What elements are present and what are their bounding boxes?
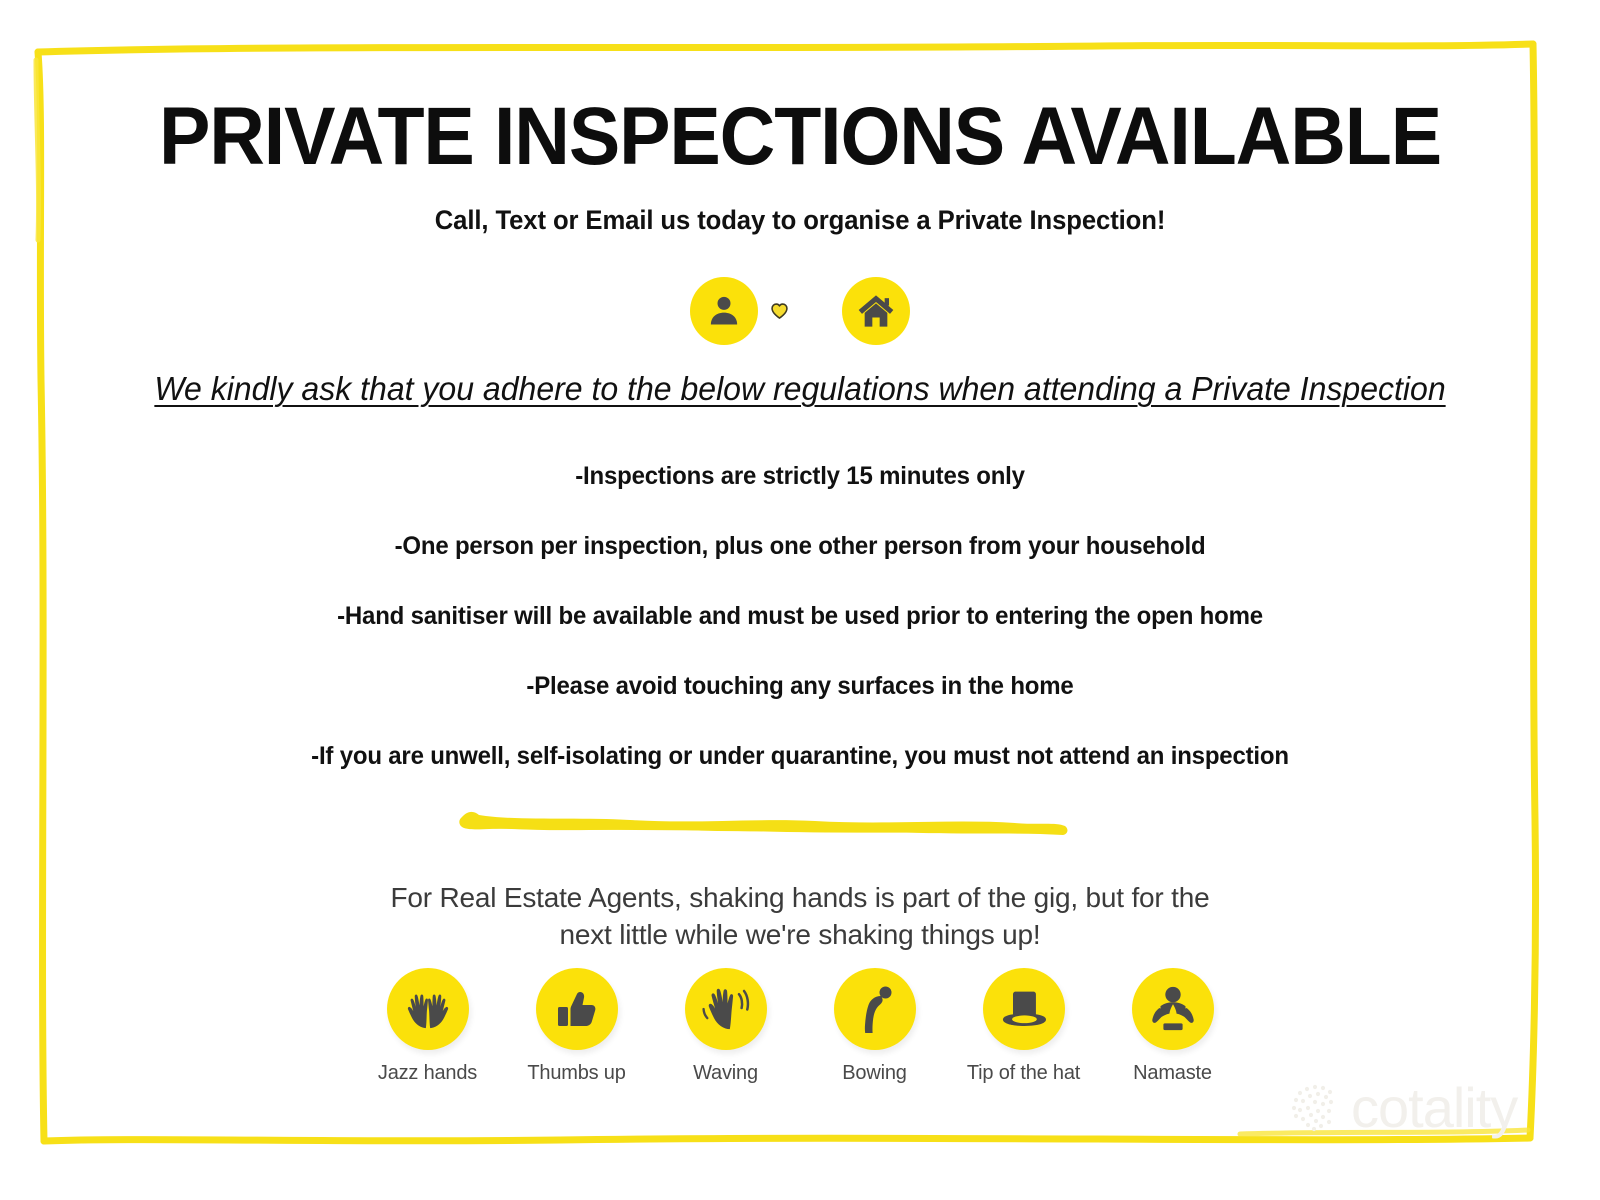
- rule-item: -Hand sanitiser will be available and mu…: [32, 602, 1568, 631]
- page-subtitle: Call, Text or Email us today to organise…: [40, 205, 1560, 236]
- rules-heading: We kindly ask that you adhere to the bel…: [24, 370, 1576, 408]
- rule-item: -Please avoid touching any surfaces in t…: [32, 672, 1568, 701]
- gesture-waving: Waving: [681, 968, 771, 1085]
- gesture-bowing: Bowing: [830, 968, 920, 1085]
- bowing-person-icon: [854, 984, 896, 1034]
- page-title: PRIVATE INSPECTIONS AVAILABLE: [48, 96, 1552, 178]
- gesture-label: Waving: [693, 1062, 758, 1085]
- gesture-jazz-hands: Jazz hands: [383, 968, 473, 1085]
- rule-item: -If you are unwell, self-isolating or un…: [32, 742, 1568, 771]
- rule-item: -One person per inspection, plus one oth…: [32, 532, 1568, 561]
- person-badge: [690, 277, 758, 345]
- gesture-tip-of-the-hat: Tip of the hat: [979, 968, 1069, 1085]
- person-icon: [705, 292, 743, 330]
- thumbs-up-icon: [553, 985, 601, 1033]
- jazz-hands-icon: [402, 988, 454, 1030]
- gesture-label: Jazz hands: [378, 1062, 477, 1085]
- heart-icon: [771, 303, 788, 319]
- top-hat-circle: [983, 968, 1065, 1050]
- gesture-row: Jazz hands Thumbs up: [0, 968, 1600, 1085]
- poster-canvas: cotality PRIVATE INSPECTIONS AVAILABLE C…: [0, 0, 1600, 1200]
- thumbs-up-circle: [536, 968, 618, 1050]
- bottom-note: For Real Estate Agents, shaking hands is…: [0, 880, 1600, 954]
- house-badge: [842, 277, 910, 345]
- bottom-note-line-1: For Real Estate Agents, shaking hands is…: [0, 880, 1600, 917]
- badge-row: [0, 277, 1600, 345]
- gesture-label: Tip of the hat: [967, 1062, 1080, 1085]
- namaste-person-circle: [1132, 968, 1214, 1050]
- gesture-thumbs-up: Thumbs up: [532, 968, 622, 1085]
- gesture-label: Bowing: [842, 1062, 906, 1085]
- gesture-label: Thumbs up: [527, 1062, 625, 1085]
- rules-list: -Inspections are strictly 15 minutes onl…: [0, 462, 1600, 812]
- top-hat-icon: [998, 987, 1050, 1031]
- bowing-person-circle: [834, 968, 916, 1050]
- house-icon: [856, 291, 896, 331]
- heart-badge: [758, 303, 800, 319]
- rule-item: -Inspections are strictly 15 minutes onl…: [32, 462, 1568, 491]
- namaste-person-icon: [1147, 985, 1199, 1033]
- bottom-note-line-2: next little while we're shaking things u…: [0, 917, 1600, 954]
- jazz-hands-circle: [387, 968, 469, 1050]
- gesture-label: Namaste: [1133, 1062, 1212, 1085]
- brush-divider: [455, 798, 1075, 840]
- gesture-namaste: Namaste: [1128, 968, 1218, 1085]
- waving-hand-icon: [701, 986, 751, 1032]
- waving-hand-circle: [685, 968, 767, 1050]
